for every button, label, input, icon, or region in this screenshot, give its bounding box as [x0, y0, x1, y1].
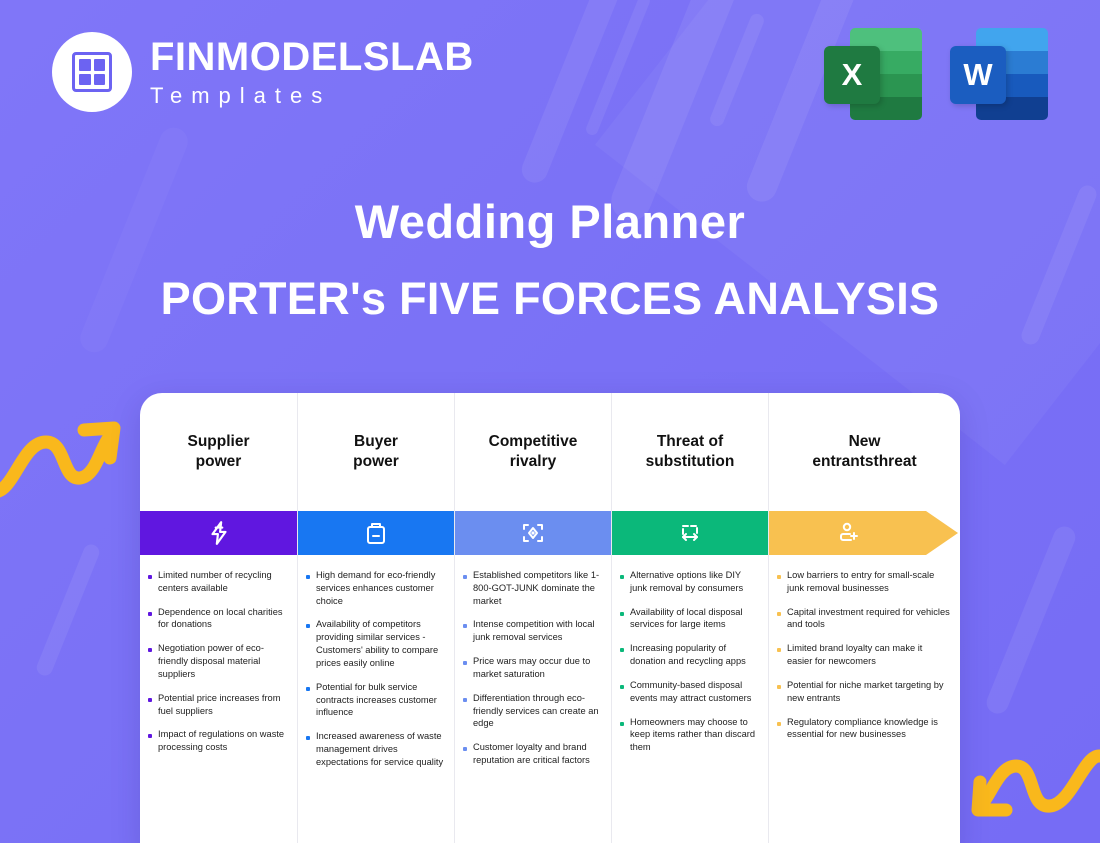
bullet-list: Low barriers to entry for small-scale ju… — [769, 555, 960, 762]
column-title-line2: substitution — [646, 453, 735, 470]
arrow-head — [926, 511, 958, 555]
lightning-bolt-icon — [206, 520, 232, 546]
force-column-competitive-rivalry: Competitive rivalry Established competit… — [454, 393, 611, 843]
column-title-line1: New — [849, 433, 881, 450]
column-icon-band — [769, 511, 926, 555]
bullet-list: Established competitors like 1-800-GOT-J… — [455, 555, 611, 788]
curved-arrow-up-right-icon — [0, 408, 122, 505]
list-item: Low barriers to entry for small-scale ju… — [777, 569, 950, 595]
shopping-bag-minus-icon — [364, 520, 388, 546]
list-item: Homeowners may choose to keep items rath… — [620, 716, 758, 754]
list-item: Increased awareness of waste management … — [306, 730, 444, 768]
porters-five-forces-card: Supplier power Limited number of recycli… — [140, 393, 960, 843]
list-item: Customer loyalty and brand reputation ar… — [463, 741, 601, 767]
column-title-line2: rivalry — [510, 453, 557, 470]
force-column-threat-of-substitution: Threat of substitution Alternative optio… — [611, 393, 768, 843]
bullet-list: Limited number of recycling centers avai… — [140, 555, 297, 775]
list-item: Price wars may occur due to market satur… — [463, 655, 601, 681]
list-item: Availability of competitors providing si… — [306, 618, 444, 669]
page-header: FINMODELSLAB Templates X W — [0, 0, 1100, 150]
list-item: Limited brand loyalty can make it easier… — [777, 642, 950, 668]
list-item: Limited number of recycling centers avai… — [148, 569, 287, 595]
list-item: Community-based disposal events may attr… — [620, 679, 758, 705]
column-title-line1: Competitive — [489, 433, 578, 450]
logo-mark — [52, 32, 132, 112]
list-item: High demand for eco-friendly services en… — [306, 569, 444, 607]
list-item: Availability of local disposal services … — [620, 606, 758, 632]
column-header: Buyer power — [298, 393, 454, 511]
bullet-list: High demand for eco-friendly services en… — [298, 555, 454, 790]
list-item: Increasing popularity of donation and re… — [620, 642, 758, 668]
excel-icon-letter: X — [824, 46, 880, 104]
column-title-line2: power — [196, 453, 242, 470]
bullet-list: Alternative options like DIY junk remova… — [612, 555, 768, 775]
page-subtitle: PORTER's FIVE FORCES ANALYSIS — [0, 274, 1100, 324]
list-item: Alternative options like DIY junk remova… — [620, 569, 758, 595]
column-icon-band — [298, 511, 454, 555]
list-item: Intense competition with local junk remo… — [463, 618, 601, 644]
background-brush-stroke — [34, 542, 101, 678]
page-title: Wedding Planner — [0, 196, 1100, 248]
column-icon-band — [455, 511, 611, 555]
list-item: Potential for bulk service contracts inc… — [306, 681, 444, 719]
brand-tagline: Templates — [150, 85, 474, 107]
column-header: New entrantsthreat — [769, 393, 960, 511]
list-item: Capital investment required for vehicles… — [777, 606, 950, 632]
user-plus-icon — [835, 520, 861, 546]
column-title-line1: Buyer — [354, 433, 398, 450]
word-icon-letter: W — [950, 46, 1006, 104]
list-item: Impact of regulations on waste processin… — [148, 728, 287, 754]
list-item: Dependence on local charities for donati… — [148, 606, 287, 632]
grid-icon — [72, 52, 112, 92]
list-item: Established competitors like 1-800-GOT-J… — [463, 569, 601, 607]
column-icon-band — [612, 511, 768, 555]
list-item: Regulatory compliance knowledge is essen… — [777, 716, 950, 742]
column-title-line1: Supplier — [187, 433, 249, 450]
list-item: Negotiation power of eco-friendly dispos… — [148, 642, 287, 680]
brand-name: FINMODELSLAB — [150, 37, 474, 77]
force-column-supplier-power: Supplier power Limited number of recycli… — [140, 393, 297, 843]
column-title-line2: power — [353, 453, 399, 470]
list-item: Differentiation through eco-friendly ser… — [463, 692, 601, 730]
background-brush-stroke — [983, 523, 1078, 717]
curved-arrow-down-left-icon — [964, 748, 1100, 843]
brand-logo: FINMODELSLAB Templates — [52, 32, 474, 112]
word-icon: W — [950, 28, 1048, 120]
column-title-line2: entrantsthreat — [812, 453, 916, 470]
force-column-buyer-power: Buyer power High demand for eco-friendly… — [297, 393, 454, 843]
column-header: Supplier power — [140, 393, 297, 511]
column-title-line1: Threat of — [657, 433, 723, 450]
list-item: Potential for niche market targeting by … — [777, 679, 950, 705]
column-icon-band — [140, 511, 297, 555]
list-item: Potential price increases from fuel supp… — [148, 692, 287, 718]
column-header: Competitive rivalry — [455, 393, 611, 511]
exchange-arrows-icon — [677, 520, 703, 546]
focus-target-icon — [520, 520, 546, 546]
excel-icon: X — [824, 28, 922, 120]
office-format-icons: X W — [824, 28, 1048, 120]
force-column-new-entrants-threat: New entrantsthreat Low barriers to entry… — [768, 393, 960, 843]
column-header: Threat of substitution — [612, 393, 768, 511]
title-block: Wedding Planner PORTER's FIVE FORCES ANA… — [0, 196, 1100, 323]
